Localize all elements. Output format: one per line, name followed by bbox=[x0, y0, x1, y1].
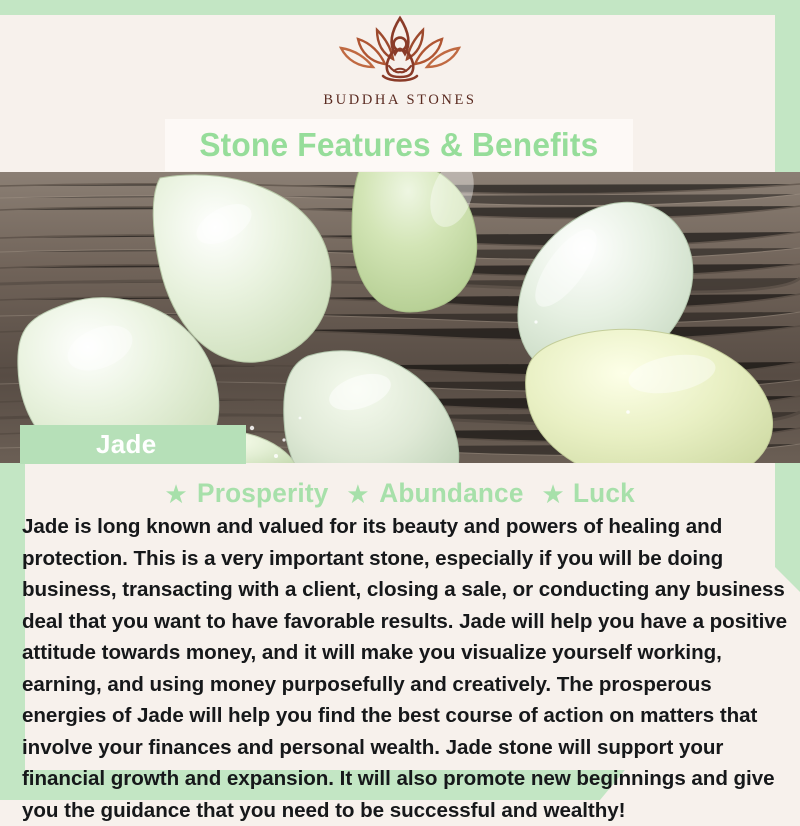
page-title: Stone Features & Benefits bbox=[199, 126, 598, 164]
benefit-label: Prosperity bbox=[197, 478, 328, 509]
decorative-band-top bbox=[0, 0, 800, 15]
star-icon: ★ bbox=[164, 481, 187, 507]
brand-name: BUDDHA STONES bbox=[323, 92, 476, 109]
jade-stones-image bbox=[0, 172, 800, 463]
benefit-item-luck: ★ Luck bbox=[525, 478, 635, 509]
benefit-item-prosperity: ★ Prosperity bbox=[164, 478, 330, 509]
benefits-row: ★ Prosperity ★ Abundance ★ Luck bbox=[0, 478, 800, 509]
stone-description: Jade is long known and valued for its be… bbox=[22, 511, 788, 826]
lotus-meditation-icon bbox=[325, 14, 475, 86]
infographic-card: BUDDHA STONES Stone Features & Benefits bbox=[0, 0, 800, 800]
benefit-label: Luck bbox=[573, 478, 635, 509]
title-panel: Stone Features & Benefits bbox=[165, 119, 633, 171]
benefit-label: Abundance bbox=[379, 478, 523, 509]
stone-name-band: Jade bbox=[20, 425, 246, 464]
star-icon: ★ bbox=[541, 481, 564, 507]
stone-name-label: Jade bbox=[96, 429, 156, 460]
star-icon: ★ bbox=[346, 481, 369, 507]
brand-logo: BUDDHA STONES bbox=[0, 14, 800, 109]
benefit-item-abundance: ★ Abundance bbox=[330, 478, 525, 509]
stone-photo bbox=[0, 172, 800, 463]
